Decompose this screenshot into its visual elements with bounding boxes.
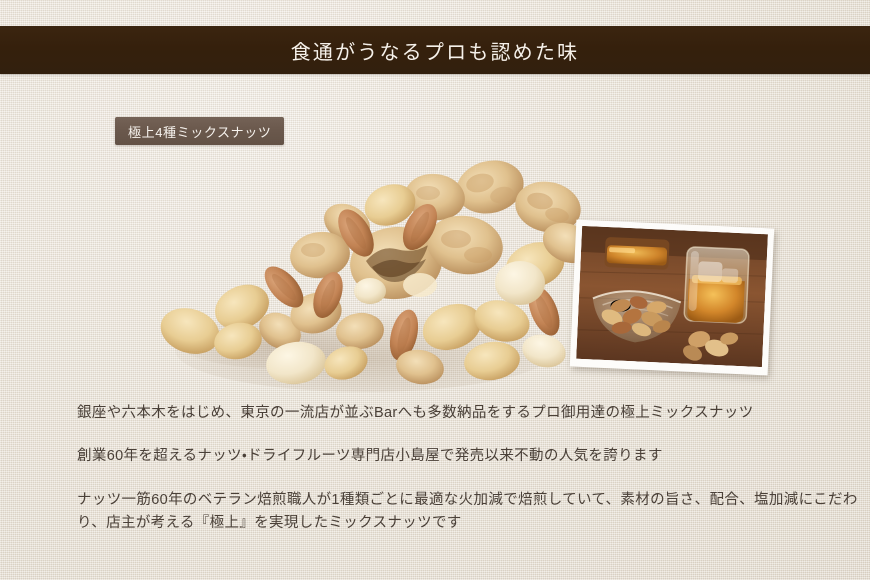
description-copy: 銀座や六本木をはじめ、東京の一流店が並ぶBarへも多数納品をするプロ御用達の極上… (77, 402, 867, 536)
page-title: 食通がうなるプロも認めた味 (291, 36, 580, 65)
mixed-nuts-pile-photo (120, 135, 590, 400)
header-band: 食通がうなるプロも認めた味 (0, 26, 870, 74)
description-paragraph-1: 銀座や六本木をはじめ、東京の一流店が並ぶBarへも多数納品をするプロ御用達の極上… (77, 402, 867, 425)
description-paragraph-3: ナッツ一筋60年のベテラン焙煎職人が1種類ごとに最適な火加減で焙煎していて、素材… (77, 489, 867, 536)
description-paragraph-2: 創業60年を超えるナッツ・ドライフルーツ専門店小島屋で発売以来不動の人気を誇りま… (77, 445, 867, 468)
inset-photo-image (576, 226, 768, 367)
product-description-page: 食通がうなるプロも認めた味 極上4種ミックスナッツ (0, 0, 870, 580)
nuts-and-whisky-photo (570, 220, 774, 376)
